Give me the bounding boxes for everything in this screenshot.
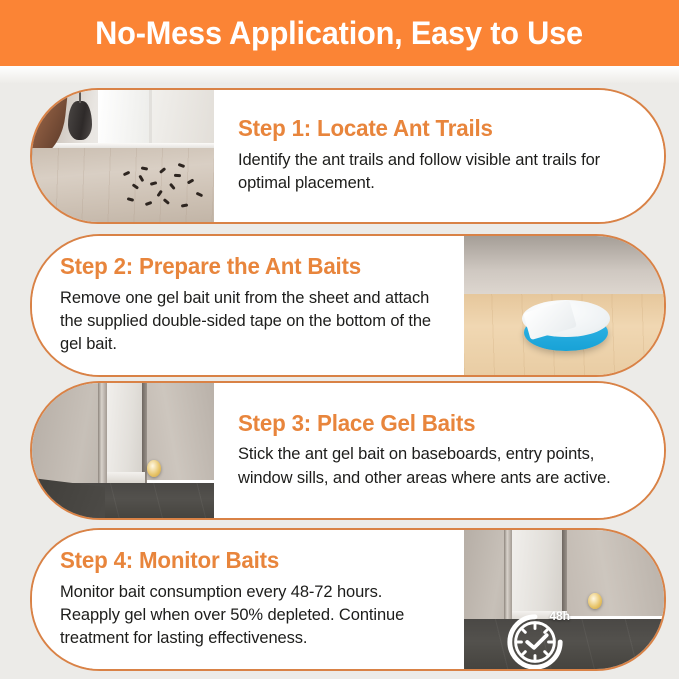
step-4-heading: Step 4: Monitor Baits bbox=[60, 548, 279, 573]
door-panel bbox=[98, 90, 153, 143]
step-card-3: Step 3: Place Gel Baits Stick the ant ge… bbox=[30, 381, 666, 520]
step-3-body: Stick the ant gel bait on baseboards, en… bbox=[238, 443, 638, 490]
step-2-photo bbox=[464, 236, 664, 375]
scene-monitor-bait: 48h bbox=[464, 530, 664, 669]
vase bbox=[68, 101, 92, 141]
wall-left bbox=[32, 383, 101, 488]
wood-floor bbox=[32, 148, 214, 222]
step-1-photo bbox=[32, 90, 214, 222]
door-jamb-left bbox=[98, 383, 107, 487]
step-1-text: Step 1: Locate Ant Trails Identify the a… bbox=[214, 90, 664, 222]
step-4-body: Monitor bait consumption every 48-72 hou… bbox=[60, 581, 446, 651]
wall-right bbox=[567, 530, 664, 616]
header-banner: No-Mess Application, Easy to Use bbox=[0, 0, 679, 66]
step-2-body: Remove one gel bait unit from the sheet … bbox=[60, 287, 446, 357]
clock-overlay: 48h bbox=[504, 611, 566, 669]
ant-icon bbox=[141, 166, 148, 170]
step-3-heading: Step 3: Place Gel Baits bbox=[238, 411, 475, 436]
step-3-photo bbox=[32, 383, 214, 518]
scene-baseboard-placement bbox=[32, 383, 214, 518]
page-title: No-Mess Application, Easy to Use bbox=[96, 15, 584, 52]
step-4-text: Step 4: Monitor Baits Monitor bait consu… bbox=[32, 530, 464, 669]
scene-gel-bait bbox=[464, 236, 664, 375]
step-card-1: Step 1: Locate Ant Trails Identify the a… bbox=[30, 88, 666, 224]
step-1-heading: Step 1: Locate Ant Trails bbox=[238, 116, 493, 141]
scene-ant-trail bbox=[32, 90, 214, 222]
step-2-heading: Step 2: Prepare the Ant Baits bbox=[60, 254, 361, 279]
step-1-body: Identify the ant trails and follow visib… bbox=[238, 149, 638, 196]
wall-left bbox=[464, 530, 508, 630]
banner-shadow bbox=[0, 66, 679, 84]
wall bbox=[464, 236, 664, 294]
step-3-text: Step 3: Place Gel Baits Stick the ant ge… bbox=[214, 383, 664, 518]
door-jamb-right bbox=[142, 383, 147, 483]
clock-duration-label: 48h bbox=[549, 609, 570, 623]
step-card-4: 48h Step 4: Monitor Baits Monitor bait c… bbox=[30, 528, 666, 671]
door-opening bbox=[107, 383, 145, 483]
step-2-text: Step 2: Prepare the Ant Baits Remove one… bbox=[32, 236, 464, 375]
gel-bait-icon bbox=[588, 593, 602, 610]
step-card-2: Step 2: Prepare the Ant Baits Remove one… bbox=[30, 234, 666, 377]
step-4-photo: 48h bbox=[464, 530, 664, 669]
